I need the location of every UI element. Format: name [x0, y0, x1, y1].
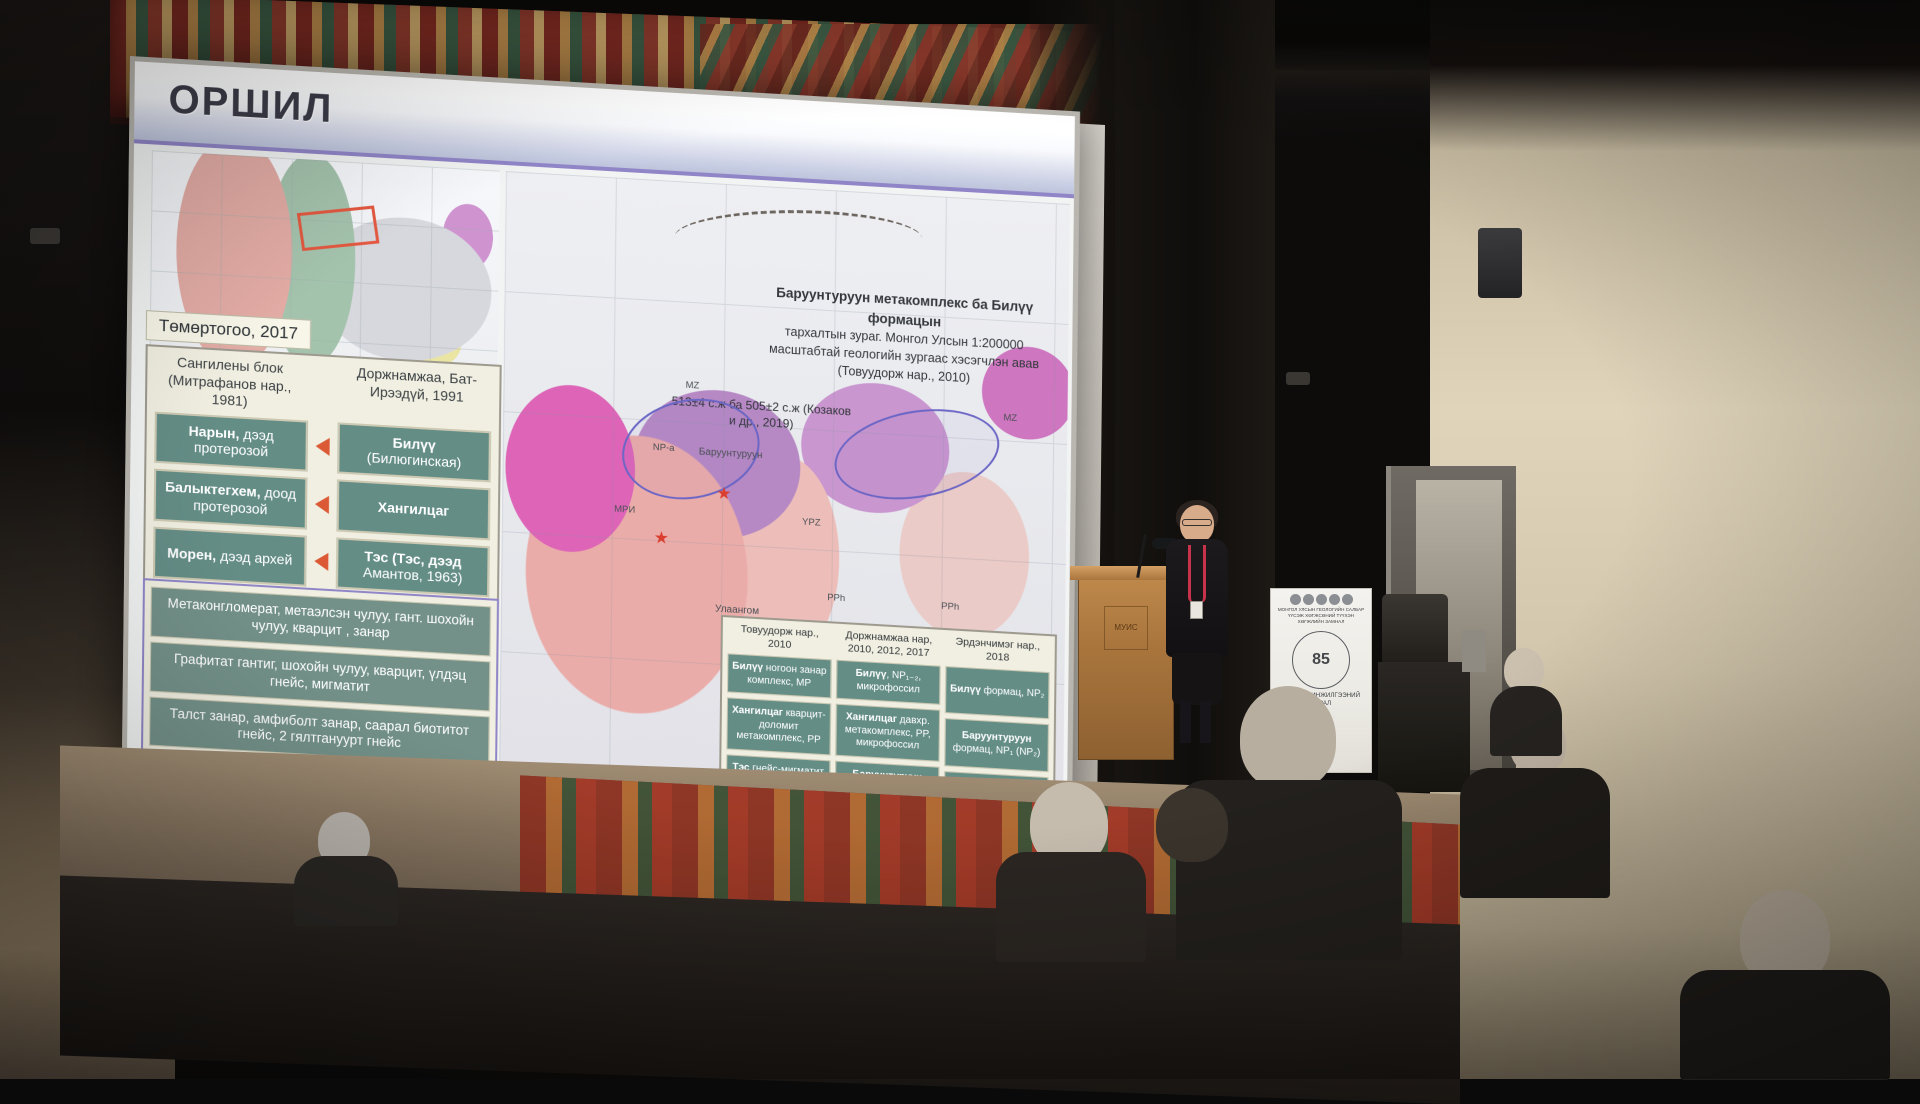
equipment-case	[1382, 594, 1448, 668]
correlation-arrow-icon	[311, 478, 334, 531]
logo-icon-1	[1290, 594, 1301, 605]
correlation-arrow-icon	[311, 420, 334, 473]
comparison-cell-left: Нарын, дээд протерозой	[154, 411, 308, 472]
presenter-leg-right	[1200, 701, 1211, 743]
audience-head-4	[1156, 788, 1228, 862]
legend-column-header: Эрдэнчимэг нар., 2018	[946, 635, 1050, 667]
audience-body-1	[294, 856, 398, 926]
banner-top-text: МОНГОЛ УЛСЫН ГЕОЛОГИЙН САЛБАР ҮҮСЭЖ ХӨГЖ…	[1271, 607, 1371, 626]
audience-head-3	[1240, 686, 1336, 790]
map-label-pph-2: PPh	[941, 601, 959, 613]
map-label-pph: PPh	[827, 592, 845, 604]
presentation-slide: ОРШИЛ Төмөртогоо, 2017 Сангилены блок (М…	[127, 61, 1075, 846]
sample-star-marker-2: ★	[654, 528, 669, 549]
projection-screen-area: ОРШИЛ Төмөртогоо, 2017 Сангилены блок (М…	[110, 18, 1070, 808]
security-camera-icon	[30, 228, 60, 244]
legend-cell: Баруунтуруун формац, NP₁ (NP₂)	[944, 718, 1049, 771]
slide-title: ОРШИЛ	[168, 77, 333, 132]
map-label-ypz: YPZ	[802, 517, 821, 529]
comparison-cell-right: Тэс (Тэс, дээдАмантов, 1963)	[336, 537, 490, 598]
legend-cell: Билүү, NP₁₋₂, микрофоссил	[836, 660, 940, 705]
map-label-np-a: NP-a	[653, 442, 675, 454]
auditorium-room: ОРШИЛ Төмөртогоо, 2017 Сангилены блок (М…	[0, 0, 1920, 1079]
projection-screen: ОРШИЛ Төмөртогоо, 2017 Сангилены блок (М…	[121, 56, 1080, 852]
comparison-cell-left: Балыктегхем, доод протерозой	[154, 469, 308, 530]
logo-icon-5	[1342, 594, 1353, 605]
logo-icon-3	[1316, 594, 1327, 605]
comparison-cell-left: Морен, дээд архей	[153, 526, 307, 587]
presenter-skirt	[1172, 653, 1222, 705]
presenter	[1158, 505, 1230, 745]
map-caption: Баруунтуруун метакомплекс ба Билүү форма…	[754, 282, 1055, 393]
audience-body-6	[1490, 686, 1562, 756]
logo-icon-4	[1329, 594, 1340, 605]
audience-body-5	[1460, 768, 1610, 898]
trash-bin	[1462, 630, 1486, 672]
legend-cell: Билүү формац, NP₂	[945, 666, 1050, 719]
legend-column-header: Товуудорж нар., 2010	[728, 622, 832, 654]
legend-cell: Хангилцаг давхр. метакомплекс, PP, микро…	[835, 704, 940, 762]
anniversary-badge: 85	[1292, 631, 1350, 689]
legend-cell: Билүү ногоон занар комплекс, MP	[727, 653, 831, 698]
legend-cell: Хангилцаг кварцит-доломит метакомплекс, …	[726, 697, 831, 755]
wall-speaker	[1478, 228, 1522, 298]
map-label-mz-2: MZ	[1003, 412, 1017, 424]
logo-icon-2	[1303, 594, 1314, 605]
sample-star-marker-1: ★	[716, 484, 731, 505]
banner-sponsor-logos	[1271, 589, 1371, 607]
legend-column-header: Доржнамжаа нар, 2010, 2012, 2017	[837, 629, 941, 661]
map-label-mz: MZ	[686, 380, 700, 392]
audience-body-7	[1680, 970, 1890, 1080]
comparison-header-right: Доржнамжаа, Бат-Ирээдүй, 1991	[342, 364, 492, 425]
comparison-header-left: Сангилены блок (Митрафанов нар., 1981)	[155, 353, 305, 414]
study-area-highlight-box	[297, 205, 380, 251]
comparison-cell-right: Билүү(Билюгинская)	[337, 422, 491, 483]
main-geological-map: Баруунтуруун метакомплекс ба Билүү форма…	[499, 171, 1070, 842]
correlation-arrow-icon	[310, 536, 333, 589]
glasses-icon	[1182, 519, 1212, 526]
map-label-mpu: МРИ	[614, 504, 635, 516]
name-badge	[1190, 601, 1203, 619]
comparison-cell-right: Хангилцаг	[337, 479, 491, 540]
audience-body-2	[996, 852, 1146, 962]
podium-emblem: МУИС	[1104, 606, 1148, 650]
lanyard	[1188, 545, 1206, 603]
speaker-stack	[1378, 662, 1470, 792]
presenter-leg-left	[1180, 701, 1191, 743]
security-camera-icon-2	[1286, 372, 1310, 385]
